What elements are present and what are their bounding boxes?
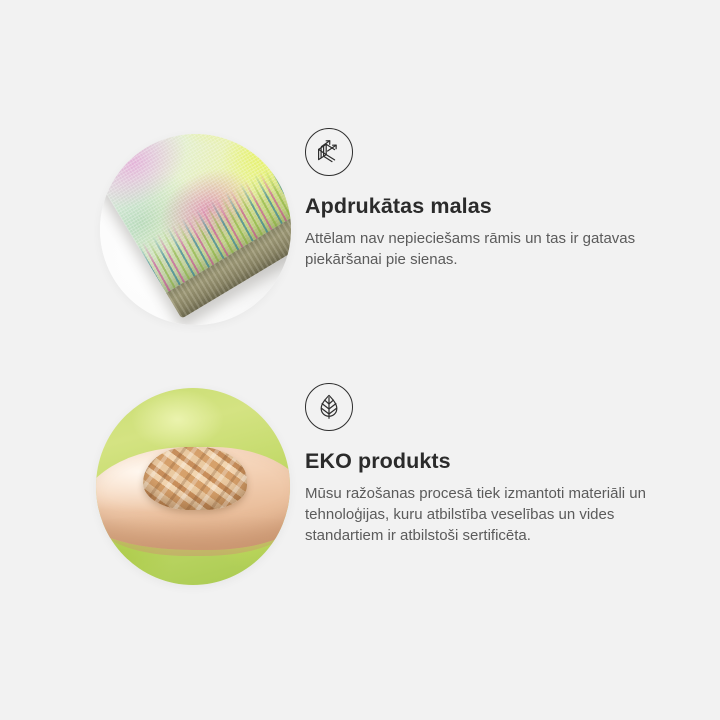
feature-block-printed-edges: Apdrukātas malas Attēlam nav nepieciešam… [0, 128, 680, 338]
feature-title: Apdrukātas malas [305, 194, 680, 220]
feature-description: Mūsu ražošanas procesā tiek izmantoti ma… [305, 483, 650, 547]
feature-media-printed-edges [0, 128, 300, 338]
feature-description: Attēlam nav nepieciešams rāmis un tas ir… [305, 228, 650, 271]
canvas-print-photo [100, 134, 291, 325]
feature-text-printed-edges: Apdrukātas malas Attēlam nav nepieciešam… [300, 128, 680, 270]
product-features-page: Apdrukātas malas Attēlam nav nepieciešam… [0, 0, 720, 720]
feature-media-eco-product [0, 383, 300, 593]
printed-edges-icon [305, 128, 353, 176]
meadow-background [96, 388, 290, 585]
wood-chips [143, 447, 248, 510]
feature-title: EKO produkts [305, 449, 680, 475]
feature-text-eco-product: EKO produkts Mūsu ražošanas procesā tiek… [300, 383, 680, 547]
eco-hands-photo [96, 388, 290, 585]
feature-block-eco-product: EKO produkts Mūsu ražošanas procesā tiek… [0, 383, 680, 593]
leaf-icon [305, 383, 353, 431]
